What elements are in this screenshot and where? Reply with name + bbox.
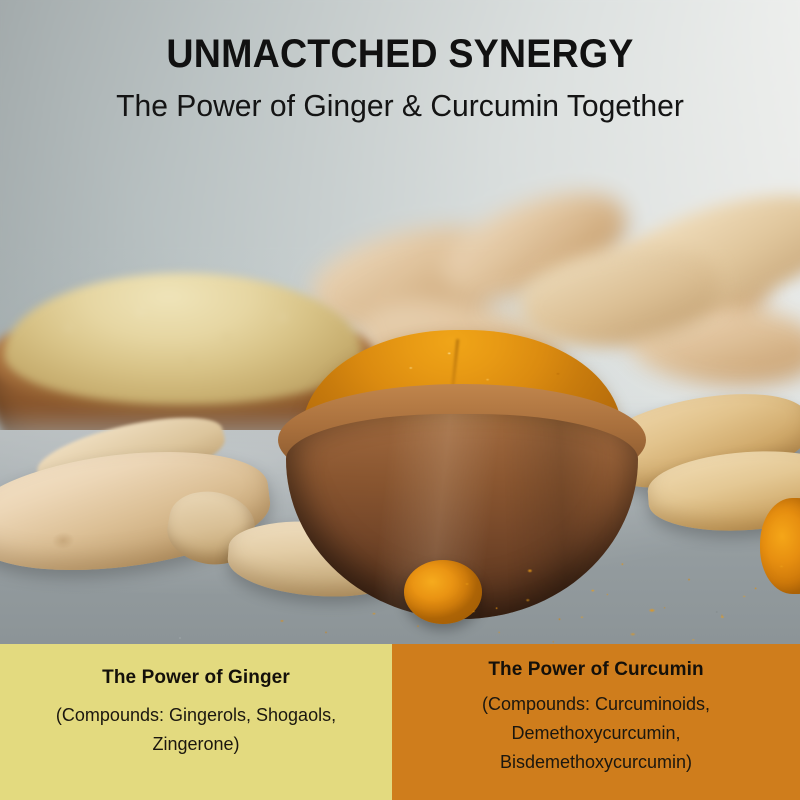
page-subtitle: The Power of Ginger & Curcumin Together	[12, 75, 788, 124]
panel-ginger-compounds: (Compounds: Gingerols, Shogaols, Zingero…	[31, 690, 361, 759]
panel-curcumin: The Power of Curcumin (Compounds: Curcum…	[392, 644, 800, 800]
panel-curcumin-heading: The Power of Curcumin	[488, 658, 703, 682]
poster-header: UNMACTCHED SYNERGY The Power of Ginger &…	[0, 0, 800, 124]
panel-ginger-heading: The Power of Ginger	[102, 666, 290, 690]
infographic-poster: UNMACTCHED SYNERGY The Power of Ginger &…	[0, 0, 800, 800]
page-title: UNMACTCHED SYNERGY	[24, 0, 776, 75]
comparison-panels: The Power of Ginger (Compounds: Gingerol…	[0, 644, 800, 800]
scattered-turmeric-powder-left	[250, 596, 450, 648]
panel-curcumin-compounds: (Compounds: Curcuminoids, Demethoxycurcu…	[421, 682, 771, 777]
panel-ginger: The Power of Ginger (Compounds: Gingerol…	[0, 644, 392, 800]
